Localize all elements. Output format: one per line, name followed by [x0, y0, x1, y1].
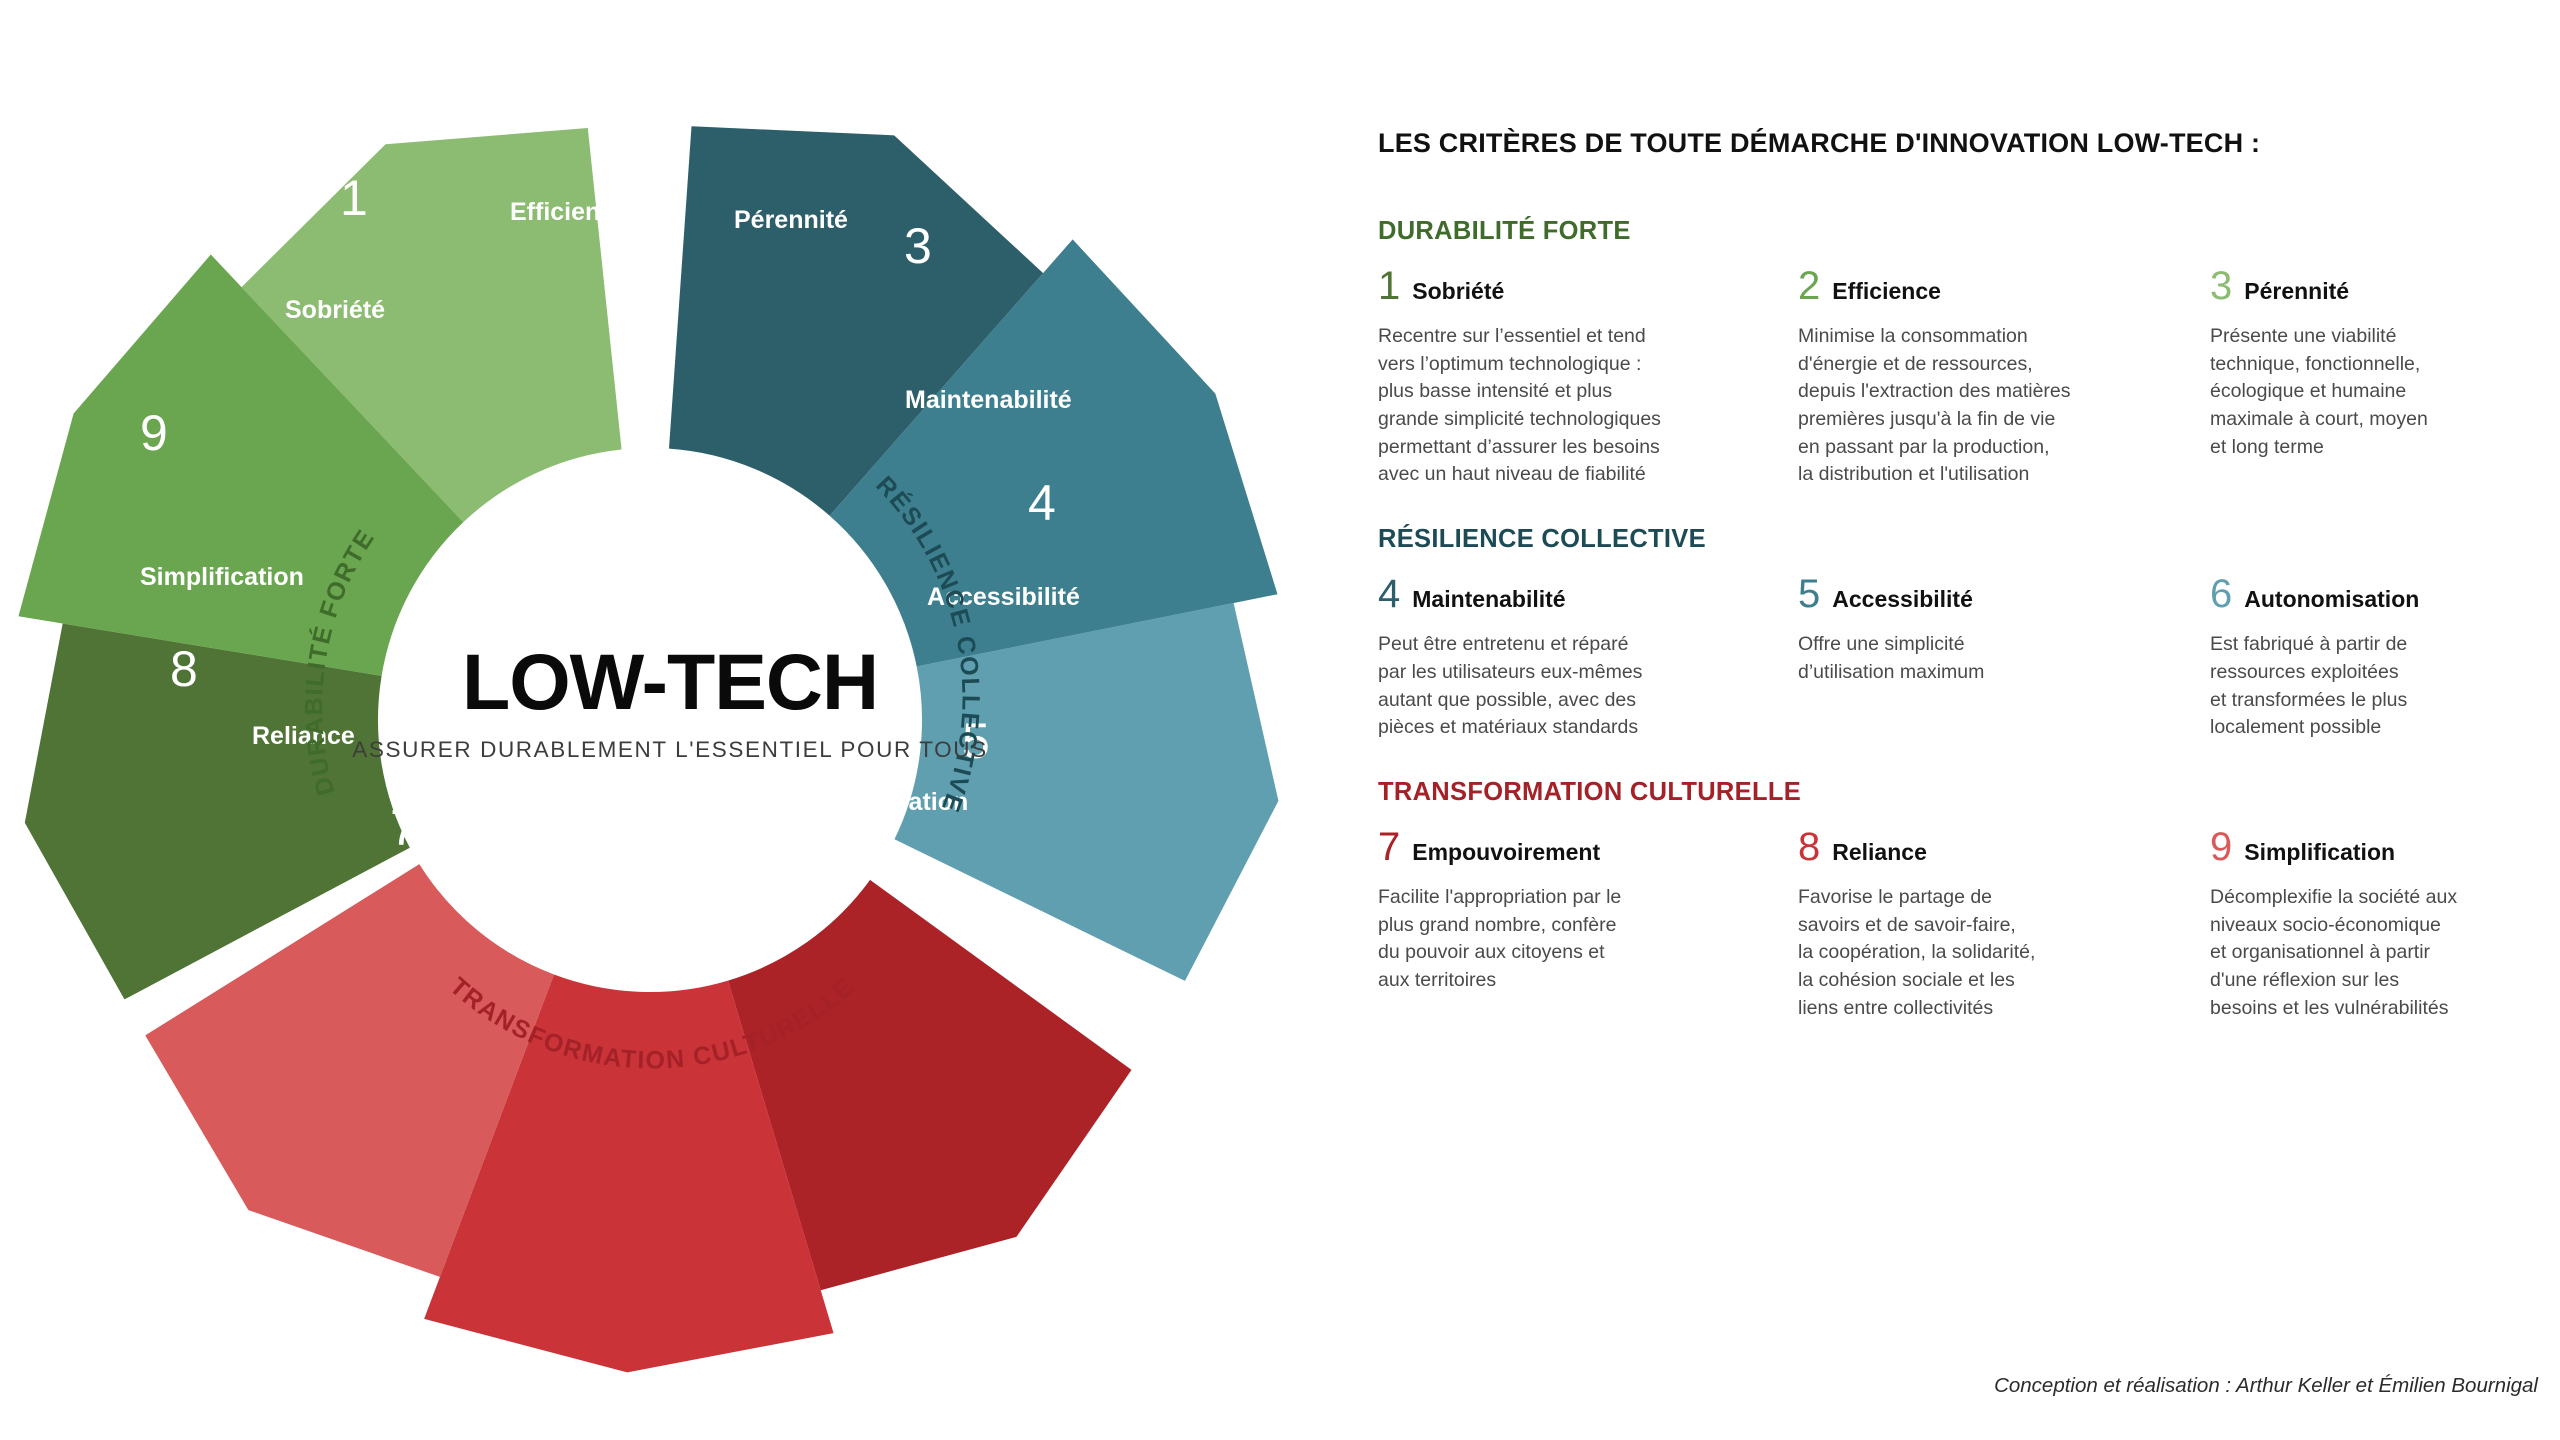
criterion-1-text: Recentre sur l’essentiel et tend vers l’… — [1378, 323, 1798, 489]
segment-label-7: Empouvoirement — [446, 813, 651, 841]
criterion-9-name: Simplification — [2244, 839, 2395, 866]
criterion-6-number: 6 — [2210, 576, 2232, 612]
group-title-resilience: RÉSILIENCE COLLECTIVE — [1378, 525, 2538, 554]
criterion-7-name: Empouvoirement — [1412, 839, 1600, 866]
criterion-7[interactable]: 7 Empouvoirement Facilite l'appropriatio… — [1378, 829, 1798, 1022]
criterion-4-text: Peut être entretenu et réparé par les ut… — [1378, 631, 1798, 742]
group-title-durabilite: DURABILITÉ FORTE — [1378, 217, 2538, 246]
segment-label-9: Simplification — [140, 563, 304, 591]
segment-num-8: 8 — [170, 641, 198, 697]
segment-label-4: Maintenabilité — [905, 386, 1072, 414]
criterion-5[interactable]: 5 Accessibilité Offre une simplicité d’u… — [1798, 576, 2210, 742]
criterion-8-text: Favorise le partage de savoirs et de sav… — [1798, 884, 2210, 1022]
center-subtitle: ASSURER DURABLEMENT L'ESSENTIEL POUR TOU… — [350, 737, 990, 763]
segment-num-6: 6 — [800, 875, 828, 931]
criterion-3-number: 3 — [2210, 268, 2232, 304]
criterion-8-number: 8 — [1798, 829, 1820, 865]
group-resilience-collective: RÉSILIENCE COLLECTIVE 4 Maintenabilité P… — [1378, 525, 2538, 742]
criterion-6[interactable]: 6 Autonomisation Est fabriqué à partir d… — [2210, 576, 2538, 742]
segment-num-3: 3 — [904, 218, 932, 274]
center-logo: LOW-TECH ASSURER DURABLEMENT L'ESSENTIEL… — [350, 642, 990, 763]
criterion-4[interactable]: 4 Maintenabilité Peut être entretenu et … — [1378, 576, 1798, 742]
segment-num-4: 4 — [1028, 475, 1056, 531]
criterion-8[interactable]: 8 Reliance Favorise le partage de savoir… — [1798, 829, 2210, 1022]
criteria-panel: LES CRITÈRES DE TOUTE DÉMARCHE D'INNOVAT… — [1378, 128, 2538, 1044]
criterion-7-text: Facilite l'appropriation par le plus gra… — [1378, 884, 1798, 995]
segment-label-3: Pérennité — [734, 206, 848, 234]
infographic-root: Sobriété 1 Efficience 2 Pérennité 3 Main… — [0, 0, 2560, 1440]
criterion-3-text: Présente une viabilité technique, foncti… — [2210, 323, 2538, 461]
panel-heading: LES CRITÈRES DE TOUTE DÉMARCHE D'INNOVAT… — [1378, 128, 2538, 159]
criterion-5-text: Offre une simplicité d’utilisation maxim… — [1798, 631, 2210, 686]
criterion-4-number: 4 — [1378, 576, 1400, 612]
segment-label-2: Efficience — [510, 198, 628, 226]
criterion-2[interactable]: 2 Efficience Minimise la consommation d'… — [1798, 268, 2210, 489]
criterion-7-number: 7 — [1378, 829, 1400, 865]
criterion-5-number: 5 — [1798, 576, 1820, 612]
segment-num-7: 7 — [390, 800, 418, 856]
criterion-2-name: Efficience — [1832, 278, 1941, 305]
criterion-9[interactable]: 9 Simplification Décomplexifie la sociét… — [2210, 829, 2538, 1022]
segment-label-1: Sobriété — [285, 296, 385, 324]
low-tech-wheel: Sobriété 1 Efficience 2 Pérennité 3 Main… — [10, 30, 1350, 1420]
criterion-1-number: 1 — [1378, 268, 1400, 304]
criterion-9-text: Décomplexifie la société aux niveaux soc… — [2210, 884, 2538, 1022]
criterion-4-name: Maintenabilité — [1412, 586, 1565, 613]
criterion-3-name: Pérennité — [2244, 278, 2349, 305]
criterion-2-number: 2 — [1798, 268, 1820, 304]
criterion-3[interactable]: 3 Pérennité Présente une viabilité techn… — [2210, 268, 2538, 489]
criterion-5-name: Accessibilité — [1832, 586, 1973, 613]
criterion-1-name: Sobriété — [1412, 278, 1504, 305]
group-durabilite-forte: DURABILITÉ FORTE 1 Sobriété Recentre sur… — [1378, 217, 2538, 489]
group-transformation-culturelle: TRANSFORMATION CULTURELLE 7 Empouvoireme… — [1378, 778, 2538, 1022]
segment-num-1: 1 — [340, 170, 368, 226]
criterion-1[interactable]: 1 Sobriété Recentre sur l’essentiel et t… — [1378, 268, 1798, 489]
segment-num-9: 9 — [140, 405, 168, 461]
criterion-8-name: Reliance — [1832, 839, 1927, 866]
segment-num-2: 2 — [650, 110, 678, 166]
center-title: LOW-TECH — [350, 642, 990, 721]
criterion-6-text: Est fabriqué à partir de ressources expl… — [2210, 631, 2538, 742]
criterion-6-name: Autonomisation — [2244, 586, 2419, 613]
criterion-9-number: 9 — [2210, 829, 2232, 865]
group-title-transformation: TRANSFORMATION CULTURELLE — [1378, 778, 2538, 807]
credit-line: Conception et réalisation : Arthur Kelle… — [1378, 1374, 2538, 1398]
criterion-2-text: Minimise la consommation d'énergie et de… — [1798, 323, 2210, 489]
